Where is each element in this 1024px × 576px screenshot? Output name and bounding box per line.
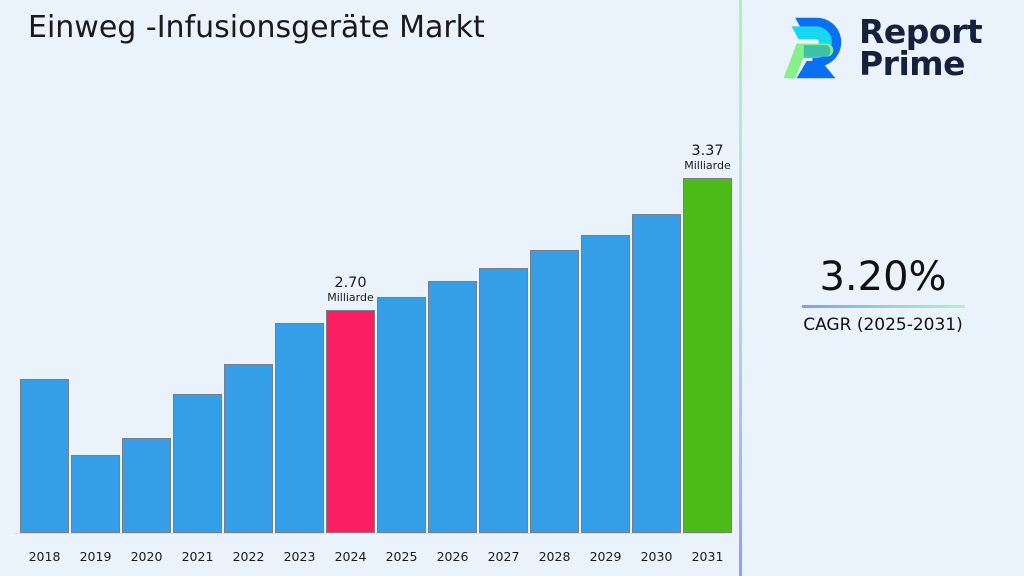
x-axis-label-2027: 2027 [479, 549, 528, 564]
bar-2027[interactable] [479, 268, 528, 533]
bar-2028[interactable] [530, 250, 579, 533]
bar-group: 2.70Milliarde2024 [326, 0, 375, 576]
bar-2020[interactable] [122, 438, 171, 533]
bar-2024[interactable] [326, 310, 375, 533]
bar-group: 2018 [20, 0, 69, 576]
bar-group: 2027 [479, 0, 528, 576]
x-axis-label-2023: 2023 [275, 549, 324, 564]
bar-2023[interactable] [275, 323, 324, 533]
x-axis-label-2018: 2018 [20, 549, 69, 564]
x-axis-label-2021: 2021 [173, 549, 222, 564]
cagr-value: 3.20% [742, 255, 1024, 299]
bar-group: 2029 [581, 0, 630, 576]
bar-2022[interactable] [224, 364, 273, 533]
bar-value-label-2031: 3.37Milliarde [673, 144, 742, 172]
bar-value-number: 3.37 [673, 144, 742, 159]
x-axis-label-2028: 2028 [530, 549, 579, 564]
cagr-caption: CAGR (2025-2031) [742, 315, 1024, 335]
bar-group: 2025 [377, 0, 426, 576]
bar-2021[interactable] [173, 394, 222, 533]
bar-group: 2030 [632, 0, 681, 576]
x-axis-label-2022: 2022 [224, 549, 273, 564]
bar-value-unit: Milliarde [316, 292, 385, 304]
x-axis-label-2019: 2019 [71, 549, 120, 564]
x-axis-label-2025: 2025 [377, 549, 426, 564]
x-axis-label-2026: 2026 [428, 549, 477, 564]
bar-2026[interactable] [428, 281, 477, 533]
bar-group: 2022 [224, 0, 273, 576]
report-prime-logo[interactable]: Report Prime [775, 12, 982, 84]
brand-panel: Report Prime 3.20% CAGR (2025-2031) [742, 0, 1024, 576]
bar-2019[interactable] [71, 455, 120, 533]
bar-group: 2020 [122, 0, 171, 576]
chart-panel: Einweg -Infusionsgeräte Markt 2018201920… [0, 0, 739, 576]
bar-value-label-2024: 2.70Milliarde [316, 276, 385, 304]
bar-group: 3.37Milliarde2031 [683, 0, 732, 576]
cagr-block: 3.20% CAGR (2025-2031) [742, 255, 1024, 335]
bar-chart: 2018201920202021202220232.70Milliarde202… [0, 0, 739, 576]
bar-group: 2028 [530, 0, 579, 576]
x-axis-label-2029: 2029 [581, 549, 630, 564]
x-axis-label-2024: 2024 [326, 549, 375, 564]
bar-group: 2021 [173, 0, 222, 576]
bar-2031[interactable] [683, 178, 732, 533]
logo-wordmark-line2: Prime [859, 48, 982, 80]
bar-2030[interactable] [632, 214, 681, 533]
bar-group: 2019 [71, 0, 120, 576]
x-axis-label-2031: 2031 [683, 549, 732, 564]
logo-wordmark: Report Prime [859, 16, 982, 79]
bar-2029[interactable] [581, 235, 630, 533]
bar-2018[interactable] [20, 379, 69, 533]
x-axis-label-2030: 2030 [632, 549, 681, 564]
cagr-divider-rule [802, 305, 965, 308]
report-prime-r-mark [775, 12, 847, 84]
x-axis-label-2020: 2020 [122, 549, 171, 564]
bar-value-number: 2.70 [316, 276, 385, 291]
bar-value-unit: Milliarde [673, 160, 742, 172]
bar-2025[interactable] [377, 297, 426, 533]
bar-group: 2026 [428, 0, 477, 576]
